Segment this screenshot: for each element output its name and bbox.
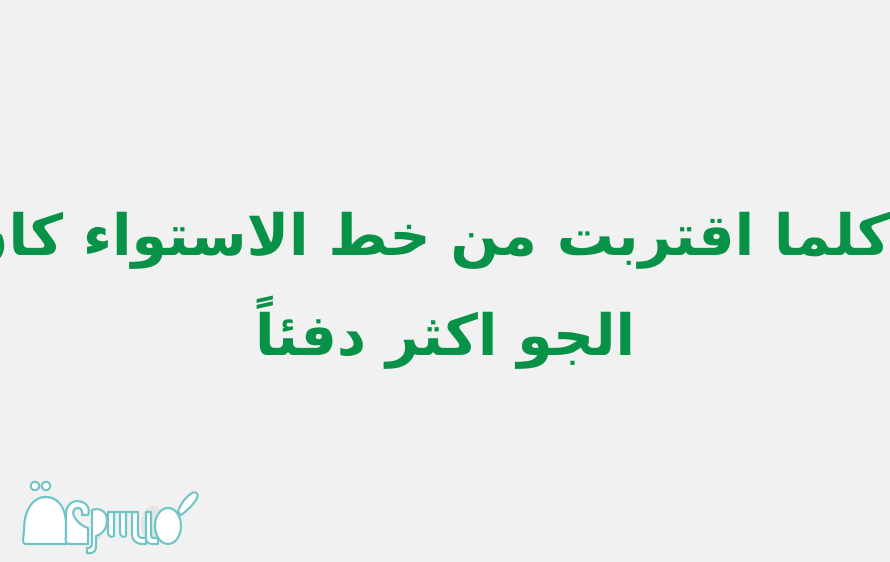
watermark-logo [8,474,208,558]
watermark-letter-ta-marbuta [23,482,66,544]
headline-line-2: الجو اكثر دفئاً [0,286,890,386]
headline-text-block: كلما اقتربت من خط الاستواء كان الجو اكثر… [0,186,890,386]
watermark-letter-ain [66,501,89,544]
watermark-letter-meem [155,492,198,544]
watermark-shadow-group [27,503,165,542]
watermark-letter-waw-2 [146,512,158,544]
headline-line-1: كلما اقتربت من خط الاستواء كان [0,186,890,286]
watermark-letter-waw-1 [87,509,107,553]
watermark-letter-seen [108,512,146,544]
page-canvas: كلما اقتربت من خط الاستواء كان الجو اكثر… [0,0,890,562]
watermark-mawsoua-icon [8,474,208,558]
